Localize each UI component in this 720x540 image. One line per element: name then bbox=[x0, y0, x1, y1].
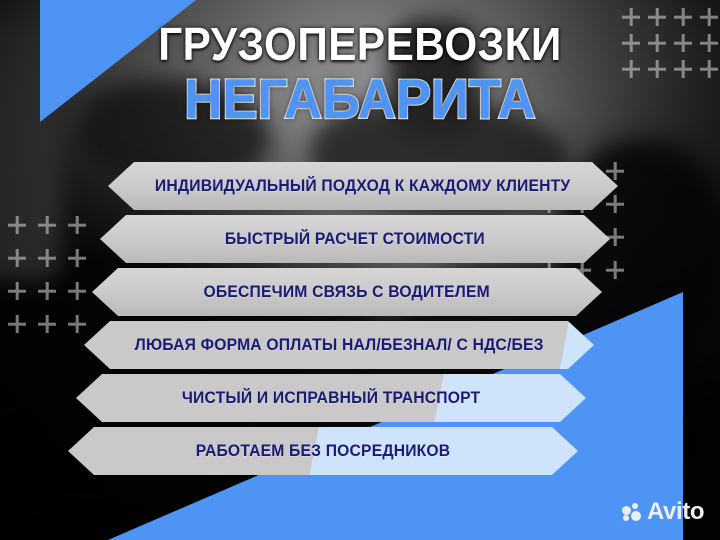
feature-banner-label: ИНДИВИДУАЛЬНЫЙ ПОДХОД К КАЖДОМУ КЛИЕНТУ bbox=[155, 177, 570, 196]
avito-dots-icon bbox=[622, 503, 642, 521]
feature-banner-1: ИНДИВИДУАЛЬНЫЙ ПОДХОД К КАЖДОМУ КЛИЕНТУ bbox=[108, 162, 618, 210]
feature-banner-4: ЛЮБАЯ ФОРМА ОПЛАТЫ НАЛ/БЕЗНАЛ/ С НДС/БЕЗ bbox=[84, 321, 594, 369]
feature-banner-label: ОБЕСПЕЧИМ СВЯЗЬ С ВОДИТЕЛЕМ bbox=[204, 283, 490, 302]
feature-banner-3: ОБЕСПЕЧИМ СВЯЗЬ С ВОДИТЕЛЕМ bbox=[92, 268, 602, 316]
feature-banner-label: РАБОТАЕМ БЕЗ ПОСРЕДНИКОВ bbox=[196, 442, 451, 461]
feature-banner-5: ЧИСТЫЙ И ИСПРАВНЫЙ ТРАНСПОРТ bbox=[76, 374, 586, 422]
feature-banner-2: БЫСТРЫЙ РАСЧЕТ СТОИМОСТИ bbox=[100, 215, 610, 263]
feature-banner-list: ИНДИВИДУАЛЬНЫЙ ПОДХОД К КАЖДОМУ КЛИЕНТУБ… bbox=[0, 0, 720, 540]
avito-watermark: Avito bbox=[622, 500, 704, 524]
feature-banner-label: ЛЮБАЯ ФОРМА ОПЛАТЫ НАЛ/БЕЗНАЛ/ С НДС/БЕЗ bbox=[135, 336, 544, 355]
avito-wordmark: Avito bbox=[647, 500, 704, 524]
feature-banner-6: РАБОТАЕМ БЕЗ ПОСРЕДНИКОВ bbox=[68, 427, 578, 475]
feature-banner-label: БЫСТРЫЙ РАСЧЕТ СТОИМОСТИ bbox=[225, 230, 485, 249]
feature-banner-label: ЧИСТЫЙ И ИСПРАВНЫЙ ТРАНСПОРТ bbox=[182, 389, 480, 408]
poster-canvas: ГРУЗОПЕРЕВОЗКИ НЕГАБАРИТА ИНДИВИДУАЛЬНЫЙ… bbox=[0, 0, 720, 540]
